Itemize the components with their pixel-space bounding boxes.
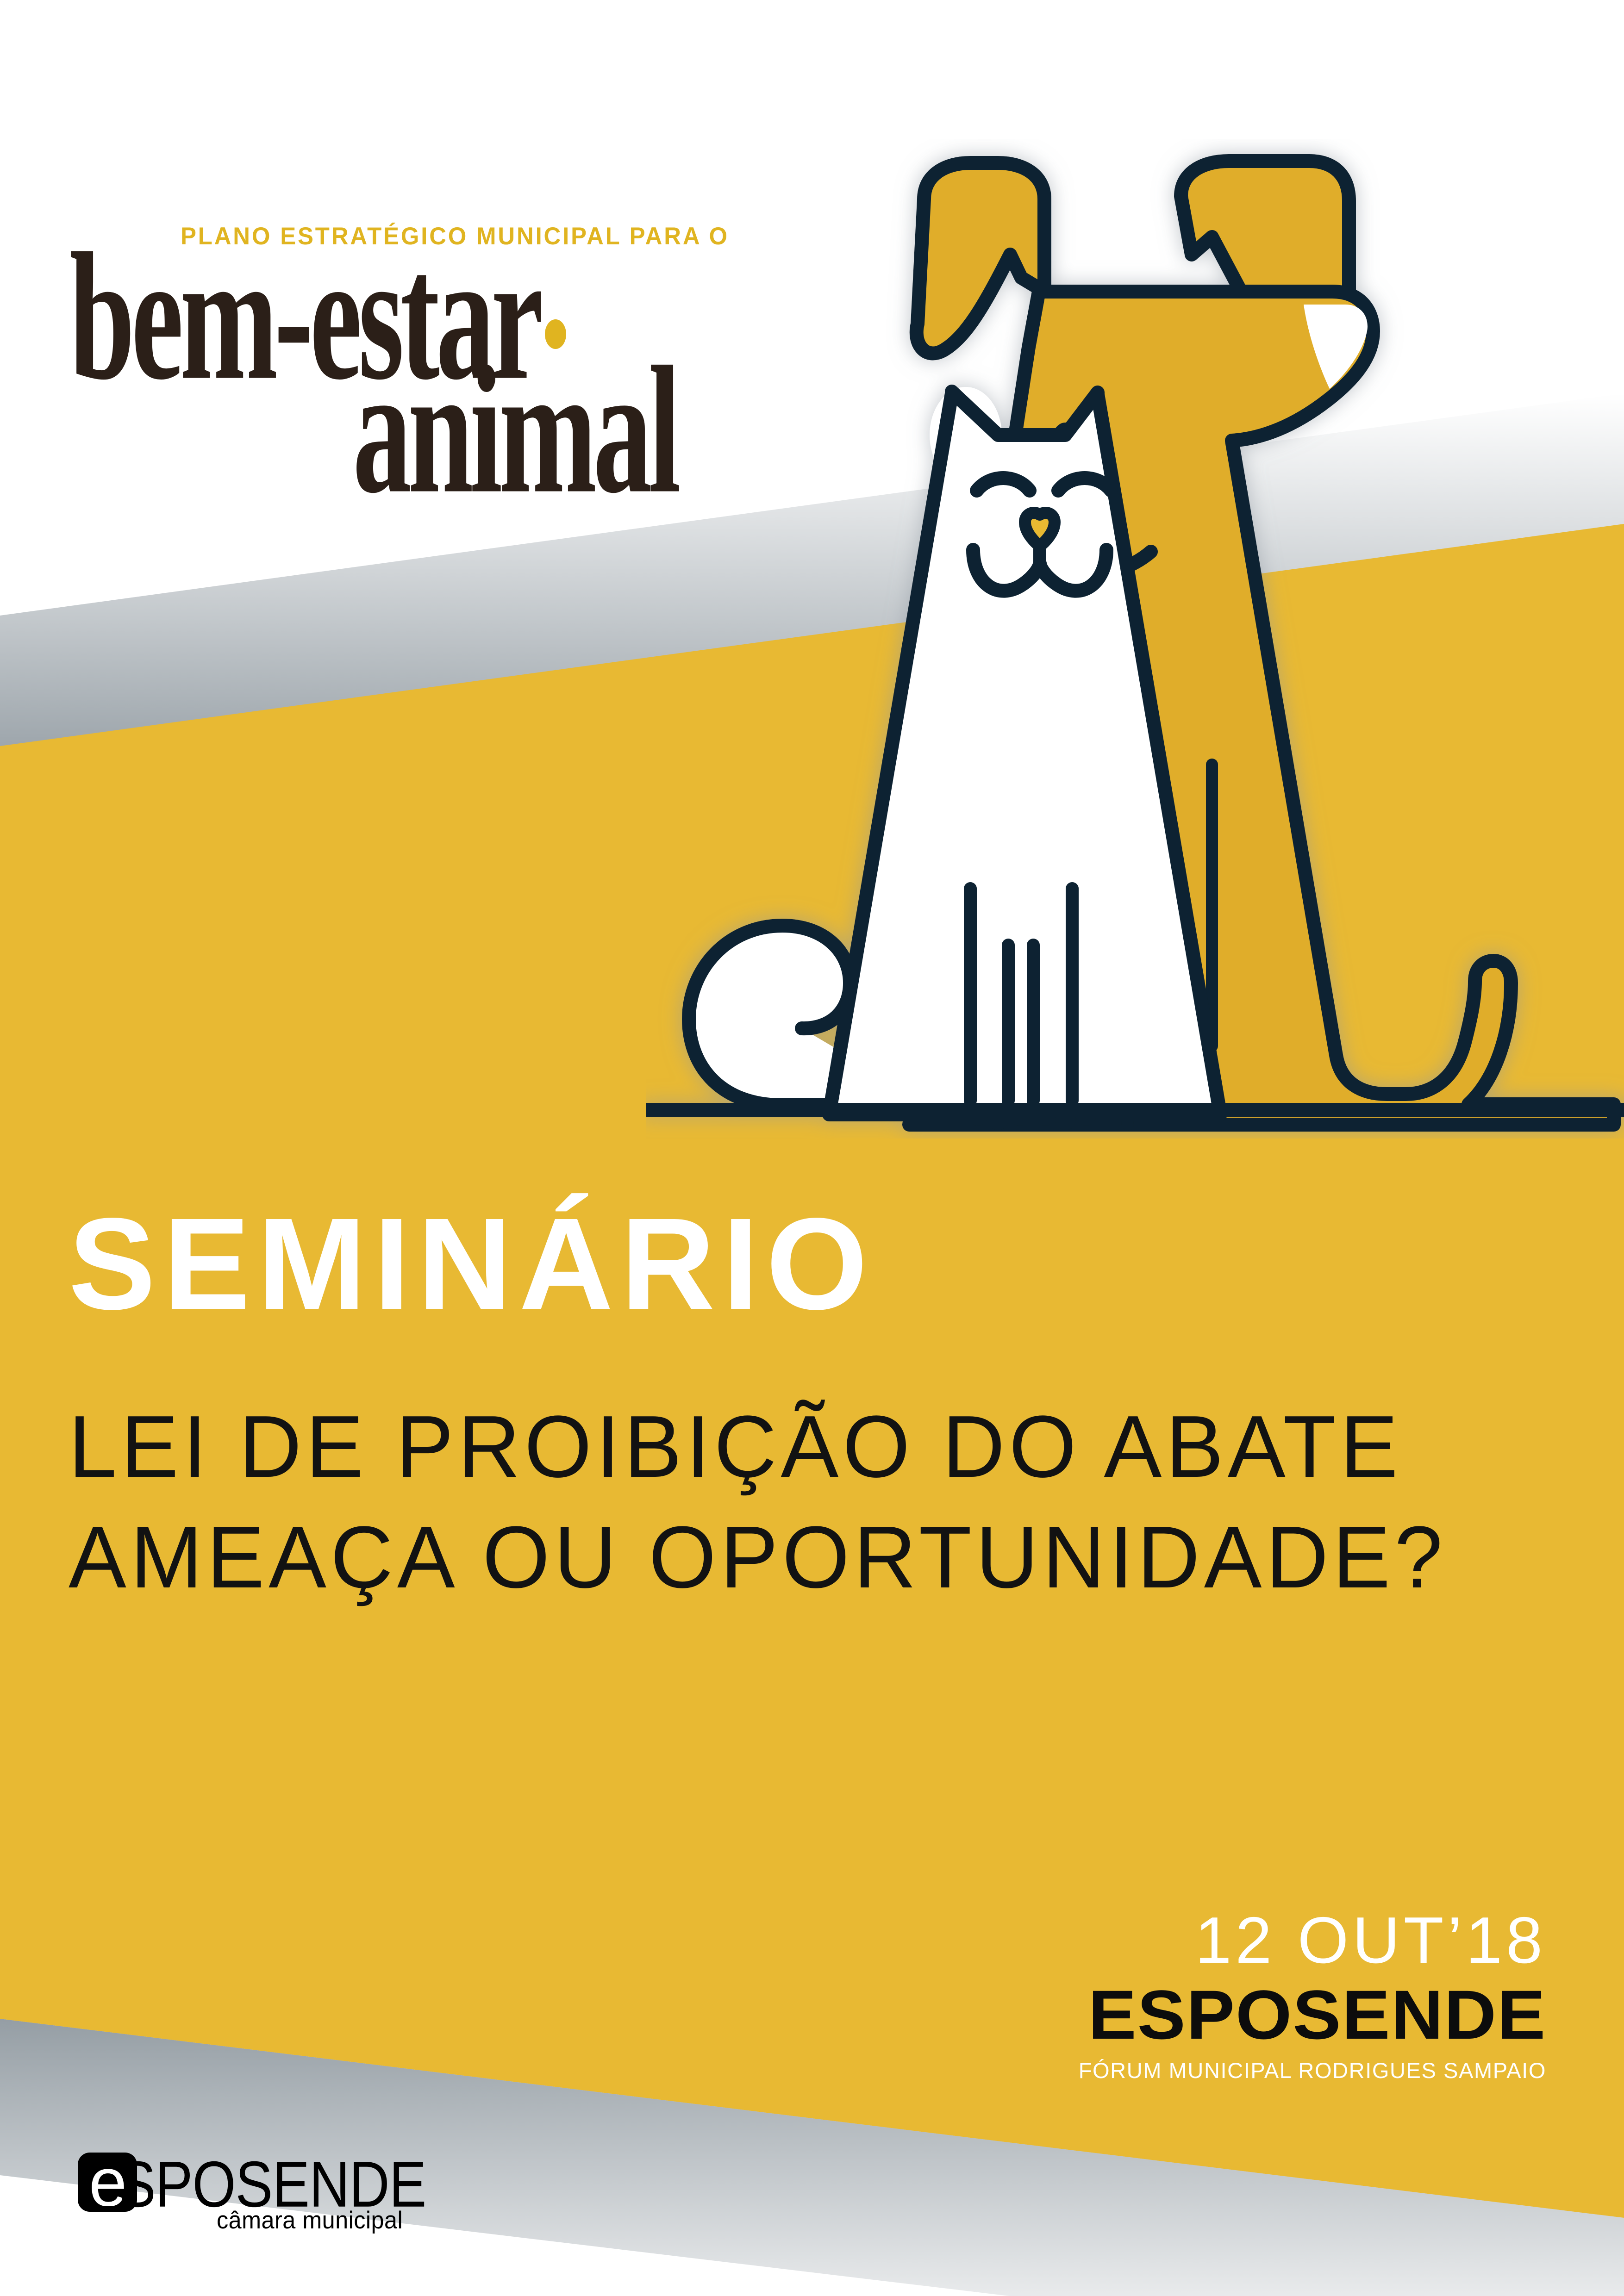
brand-wordmark-line2: animal: [353, 359, 677, 501]
subtitle-line-1: LEI DE PROIBIÇÃO DO ABATE: [69, 1398, 1528, 1496]
brand-accent-dot: [545, 319, 566, 349]
poster-canvas: PLANO ESTRATÉGICO MUNICIPAL PARA O bem-e…: [0, 0, 1624, 2296]
event-venue: FÓRUM MUNICIPAL RODRIGUES SAMPAIO: [1079, 2060, 1546, 2081]
subtitle-line-2: AMEAÇA OU OPORTUNIDADE?: [69, 1508, 1528, 1607]
organizer-logo: e SPOSENDE câmara municipal: [78, 2149, 411, 2237]
brand-lockup: PLANO ESTRATÉGICO MUNICIPAL PARA O bem-e…: [69, 199, 884, 500]
event-city: ESPOSENDE: [1060, 1980, 1546, 2049]
page-title: SEMINÁRIO: [69, 1199, 1550, 1329]
headline-block: SEMINÁRIO LEI DE PROIBIÇÃO DO ABATE AMEA…: [69, 1199, 1550, 1607]
event-details-block: 12 OUT’18 ESPOSENDE FÓRUM MUNICIPAL RODR…: [1079, 1908, 1546, 2081]
organizer-subtitle: câmara municipal: [217, 2208, 403, 2233]
event-date: 12 OUT’18: [1079, 1908, 1546, 1973]
dog-left-ear: [917, 163, 1044, 354]
